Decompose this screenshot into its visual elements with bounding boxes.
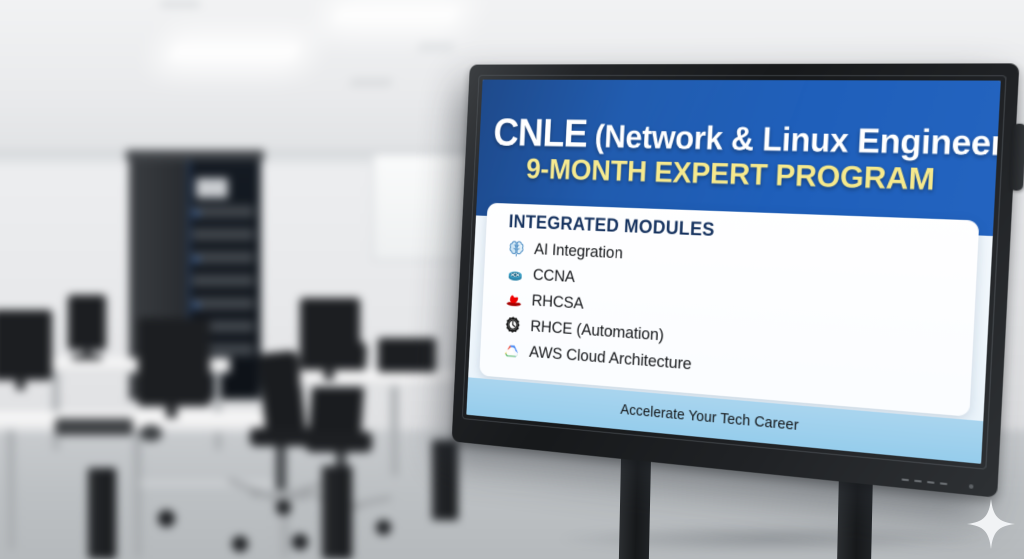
program-subtitle: 9-MONTH EXPERT PROGRAM (491, 154, 979, 199)
display-control-buttons[interactable] (902, 478, 948, 485)
program-abbreviation: CNLE (493, 111, 589, 156)
module-label: RHCSA (531, 292, 584, 314)
screenshot-scene: CNLE (Network & Linux Engineer) 9-MONTH … (0, 0, 1024, 559)
display-screen[interactable]: CNLE (Network & Linux Engineer) 9-MONTH … (466, 80, 1000, 464)
program-title: CNLE (Network & Linux Engineer) (493, 112, 982, 163)
control-button[interactable] (927, 480, 935, 483)
program-expansion: (Network & Linux Engineer) (594, 118, 1001, 163)
module-label: AI Integration (534, 240, 624, 264)
router-icon (506, 264, 525, 285)
gear-clock-icon (503, 315, 522, 336)
control-button[interactable] (940, 482, 948, 485)
module-label: CCNA (532, 266, 575, 287)
display-perspective-wrapper: CNLE (Network & Linux Engineer) 9-MONTH … (0, 0, 1024, 559)
cloud-icon (502, 340, 521, 361)
ir-sensor-icon (969, 484, 974, 489)
tagline-band: Accelerate Your Tech Career (466, 377, 983, 464)
control-button[interactable] (914, 479, 922, 482)
modules-list: AI IntegrationCCNARHCSARHCE (Automation)… (502, 236, 978, 401)
brain-icon (507, 238, 526, 259)
control-button[interactable] (902, 478, 910, 481)
display-bezel: CNLE (Network & Linux Engineer) 9-MONTH … (452, 63, 1020, 497)
side-handle-icon (1010, 124, 1024, 191)
four-point-sparkle-icon (966, 498, 1016, 550)
red-hat-icon (505, 289, 524, 310)
interactive-flat-panel[interactable]: CNLE (Network & Linux Engineer) 9-MONTH … (452, 63, 1020, 497)
title-block: CNLE (Network & Linux Engineer) 9-MONTH … (478, 112, 999, 198)
tagline-text: Accelerate Your Tech Career (620, 402, 799, 434)
